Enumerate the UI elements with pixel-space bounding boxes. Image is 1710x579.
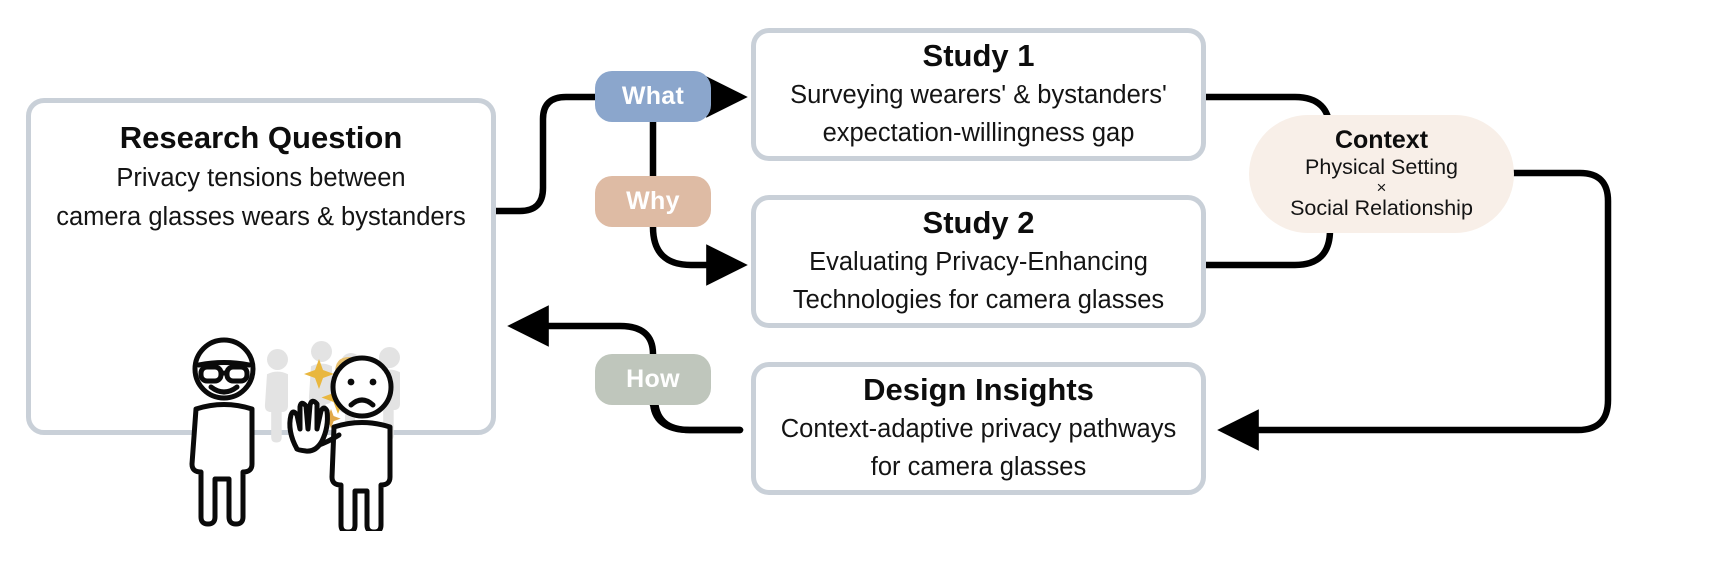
diagram-canvas: Research Question Privacy tensions betwe… xyxy=(0,0,1710,579)
research-question-card[interactable]: Research Question Privacy tensions betwe… xyxy=(26,98,496,435)
study-1-line2: expectation-willingness gap xyxy=(823,117,1135,150)
context-node[interactable]: Context Physical Setting × Social Relati… xyxy=(1249,115,1514,233)
design-insights-line2: for camera glasses xyxy=(871,451,1086,484)
research-question-line1: Privacy tensions between xyxy=(116,162,405,195)
design-insights-title: Design Insights xyxy=(863,373,1094,408)
research-question-line2: camera glasses wears & bystanders xyxy=(56,201,466,234)
study-1-card[interactable]: Study 1 Surveying wearers' & bystanders'… xyxy=(751,28,1206,161)
study-2-line1: Evaluating Privacy-Enhancing xyxy=(809,246,1148,279)
context-line2: Social Relationship xyxy=(1290,196,1473,221)
study-2-title: Study 2 xyxy=(923,206,1035,241)
study-1-line1: Surveying wearers' & bystanders' xyxy=(790,79,1167,112)
context-operator: × xyxy=(1377,179,1387,196)
research-question-title: Research Question xyxy=(120,121,403,156)
context-line1: Physical Setting xyxy=(1305,155,1458,180)
design-insights-card[interactable]: Design Insights Context-adaptive privacy… xyxy=(751,362,1206,495)
connector-pill-how[interactable]: How xyxy=(595,354,711,405)
study-2-line2: Technologies for camera glasses xyxy=(793,284,1164,317)
study-1-title: Study 1 xyxy=(923,39,1035,74)
design-insights-line1: Context-adaptive privacy pathways xyxy=(781,413,1176,446)
bystander-stick-figure xyxy=(290,358,391,531)
context-title: Context xyxy=(1335,127,1428,155)
wire-rq-to-what xyxy=(496,97,595,211)
camera-glasses-wearer-and-bystander-illustration xyxy=(171,331,421,531)
wearer-stick-figure xyxy=(192,340,253,524)
arrow-how-to-rq xyxy=(515,326,653,354)
study-2-card[interactable]: Study 2 Evaluating Privacy-Enhancing Tec… xyxy=(751,195,1206,328)
connector-pill-what[interactable]: What xyxy=(595,71,711,122)
connector-pill-why[interactable]: Why xyxy=(595,176,711,227)
arrow-why-to-study2 xyxy=(653,227,740,265)
